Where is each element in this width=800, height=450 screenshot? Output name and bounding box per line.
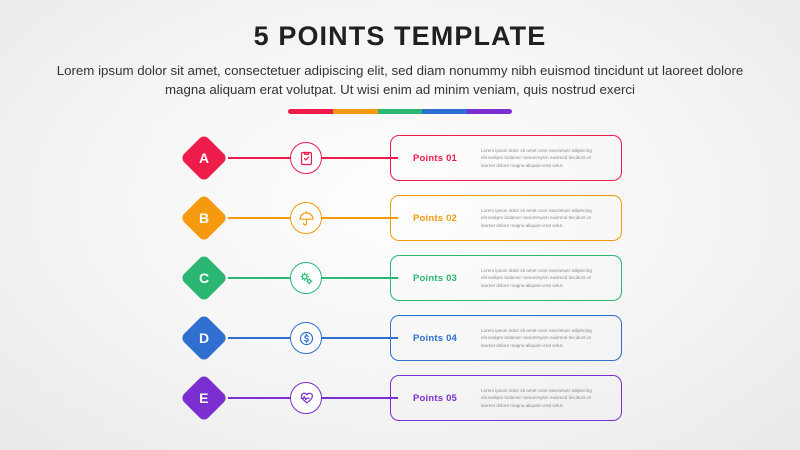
clipboard-check-icon	[298, 150, 315, 167]
point-label: Points 04	[413, 333, 475, 344]
point-label: Points 03	[413, 273, 475, 284]
accent-color-bar	[288, 109, 512, 114]
point-row: DPoints 04Lorem ipsum dolor sit amet con…	[0, 308, 800, 368]
points-list: APoints 01Lorem ipsum dolor sit amet con…	[0, 128, 800, 428]
badge-letter: D	[199, 331, 209, 345]
diamond-shape: C	[180, 254, 228, 302]
point-badge[interactable]: B	[180, 194, 228, 242]
point-label: Points 02	[413, 213, 475, 224]
badge-letter: B	[199, 211, 209, 225]
heart-pulse-icon	[298, 390, 315, 407]
point-description: Lorem ipsum dolor sit amet cons nsectetu…	[481, 387, 593, 409]
point-card[interactable]: Points 01Lorem ipsum dolor sit amet cons…	[390, 135, 622, 181]
point-description: Lorem ipsum dolor sit amet cons nsectetu…	[481, 267, 593, 289]
badge-letter: C	[199, 271, 209, 285]
point-description: Lorem ipsum dolor sit amet cons nsectetu…	[481, 207, 593, 229]
accent-swatch-2	[333, 109, 378, 114]
point-row: EPoints 05Lorem ipsum dolor sit amet con…	[0, 368, 800, 428]
point-badge[interactable]: C	[180, 254, 228, 302]
point-description: Lorem ipsum dolor sit amet cons nsectetu…	[481, 327, 593, 349]
badge-letter: E	[199, 391, 208, 405]
accent-swatch-1	[288, 109, 333, 114]
point-card[interactable]: Points 04Lorem ipsum dolor sit amet cons…	[390, 315, 622, 361]
gears-icon	[298, 270, 315, 287]
point-card[interactable]: Points 02Lorem ipsum dolor sit amet cons…	[390, 195, 622, 241]
gears-icon-circle[interactable]	[290, 262, 322, 294]
page-title: 5 POINTS TEMPLATE	[0, 0, 800, 52]
diamond-shape: A	[180, 134, 228, 182]
point-row: CPoints 03Lorem ipsum dolor sit amet con…	[0, 248, 800, 308]
point-row: BPoints 02Lorem ipsum dolor sit amet con…	[0, 188, 800, 248]
point-card[interactable]: Points 05Lorem ipsum dolor sit amet cons…	[390, 375, 622, 421]
clipboard-check-icon-circle[interactable]	[290, 142, 322, 174]
accent-swatch-4	[422, 109, 467, 114]
point-description: Lorem ipsum dolor sit amet cons nsectetu…	[481, 147, 593, 169]
infographic-page: 5 POINTS TEMPLATE Lorem ipsum dolor sit …	[0, 0, 800, 450]
umbrella-icon-circle[interactable]	[290, 202, 322, 234]
diamond-shape: E	[180, 374, 228, 422]
accent-swatch-5	[467, 109, 512, 114]
heart-pulse-icon-circle[interactable]	[290, 382, 322, 414]
point-badge[interactable]: A	[180, 134, 228, 182]
point-badge[interactable]: D	[180, 314, 228, 362]
accent-swatch-3	[378, 109, 423, 114]
badge-letter: A	[199, 151, 209, 165]
point-row: APoints 01Lorem ipsum dolor sit amet con…	[0, 128, 800, 188]
page-subtitle: Lorem ipsum dolor sit amet, consectetuer…	[50, 62, 750, 100]
point-label: Points 05	[413, 393, 475, 404]
umbrella-icon	[298, 210, 315, 227]
diamond-shape: B	[180, 194, 228, 242]
diamond-shape: D	[180, 314, 228, 362]
point-badge[interactable]: E	[180, 374, 228, 422]
point-card[interactable]: Points 03Lorem ipsum dolor sit amet cons…	[390, 255, 622, 301]
dollar-coin-icon-circle[interactable]	[290, 322, 322, 354]
dollar-coin-icon	[298, 330, 315, 347]
point-label: Points 01	[413, 153, 475, 164]
